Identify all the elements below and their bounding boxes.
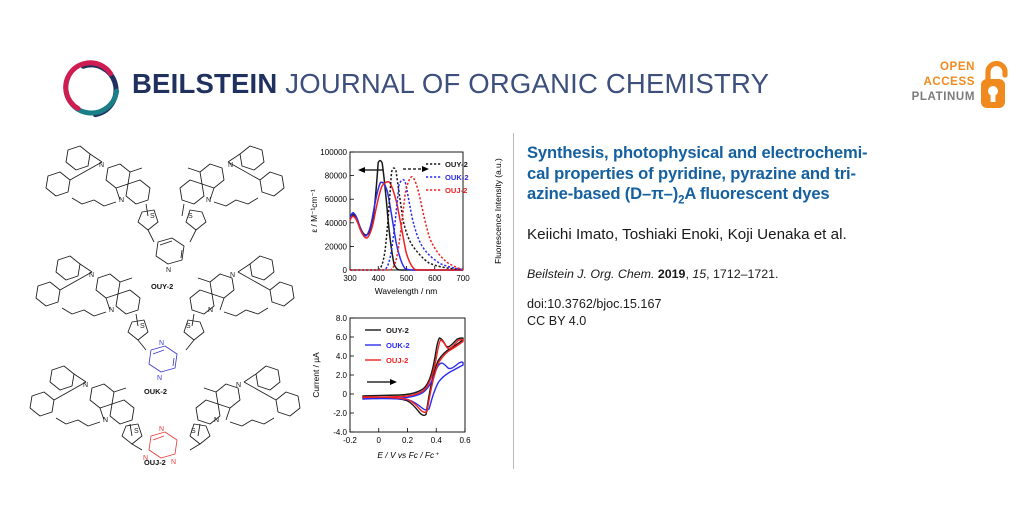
article-title-line1: Synthesis, photophysical and electrochem…: [527, 143, 867, 162]
svg-text:-2.0: -2.0: [333, 409, 347, 418]
svg-text:N: N: [109, 307, 114, 314]
svg-text:N: N: [157, 375, 162, 382]
spectra-y-axis-label: ε / M⁻¹cm⁻¹: [309, 189, 319, 232]
svg-text:N: N: [99, 162, 104, 169]
svg-text:0.2: 0.2: [402, 436, 414, 445]
compound-label-ouj2: OUJ-2: [144, 458, 166, 467]
svg-text:N: N: [166, 267, 171, 274]
svg-text:60000: 60000: [325, 195, 348, 204]
spectra-y-tick-labels: 0 20000 40000 60000 80000 100000: [320, 148, 347, 275]
article-license[interactable]: CC BY 4.0: [527, 313, 997, 330]
svg-text:S: S: [140, 323, 145, 330]
open-access-line3: PLATINUM: [912, 90, 975, 105]
absorption-emission-spectra-chart: 0 20000 40000 60000 80000 100000 300 400…: [305, 140, 510, 300]
open-access-line2: ACCESS: [912, 75, 975, 90]
vertical-divider: [513, 133, 514, 469]
open-access-line1: OPEN: [912, 60, 975, 75]
cv-legend-item-ouy2: OUY-2: [386, 326, 409, 335]
svg-text:S: S: [191, 428, 196, 435]
article-title-line2: cal properties of pyridine, pyrazine and…: [527, 164, 856, 183]
svg-text:N: N: [171, 459, 176, 466]
citation-pages: 1712–1721.: [713, 267, 778, 281]
citation-year: 2019: [658, 267, 686, 281]
spectra-x-axis-label: Wavelength / nm: [375, 286, 438, 296]
svg-text:N: N: [89, 272, 94, 279]
svg-text:80000: 80000: [325, 172, 348, 181]
svg-text:0: 0: [343, 390, 348, 399]
cv-y-tick-labels: 8.0 6.0 4.0 2.0 0 -2.0 -4.0: [333, 314, 347, 437]
article-title: Synthesis, photophysical and electrochem…: [527, 143, 997, 211]
legend-item-ouk2: OUK-2: [445, 173, 469, 182]
svg-text:N: N: [103, 417, 108, 424]
svg-text:500: 500: [400, 274, 414, 283]
chemical-structures-figure: N N S N: [28, 138, 302, 468]
article-citation: Beilstein J. Org. Chem. 2019, 15, 1712–1…: [527, 266, 997, 282]
open-padlock-icon: [979, 58, 1013, 110]
article-metadata: Synthesis, photophysical and electrochem…: [527, 143, 997, 330]
cv-legend-item-ouj2: OUJ-2: [386, 356, 408, 365]
svg-text:N: N: [236, 382, 241, 389]
citation-journal: Beilstein J. Org. Chem.: [527, 267, 654, 281]
spectra-y2-axis-label: Fluorescence Intensity (a.u.): [493, 158, 503, 264]
svg-text:100000: 100000: [320, 148, 347, 157]
wordmark-light: JOURNAL OF ORGANIC CHEMISTRY: [277, 68, 769, 99]
svg-text:0.6: 0.6: [459, 436, 471, 445]
cv-x-axis-label: E / V vs Fc / Fc⁺: [377, 450, 439, 460]
svg-text:-0.2: -0.2: [343, 436, 357, 445]
svg-text:N: N: [230, 272, 235, 279]
svg-text:S: S: [186, 323, 191, 330]
svg-text:20000: 20000: [325, 242, 348, 251]
article-doi[interactable]: doi:10.3762/bjoc.15.167: [527, 296, 997, 313]
svg-text:N: N: [159, 340, 164, 347]
svg-text:300: 300: [343, 274, 357, 283]
svg-text:S: S: [134, 428, 139, 435]
masthead: BEILSTEIN JOURNAL OF ORGANIC CHEMISTRY O…: [0, 0, 1024, 132]
svg-text:N: N: [159, 426, 164, 433]
compound-label-ouk2: OUK-2: [144, 387, 167, 396]
journal-wordmark: BEILSTEIN JOURNAL OF ORGANIC CHEMISTRY: [132, 70, 769, 98]
svg-text:N: N: [206, 197, 211, 204]
article-title-line3-a: azine-based (D–π–): [527, 184, 678, 203]
svg-text:2.0: 2.0: [336, 371, 348, 380]
svg-text:N: N: [83, 382, 88, 389]
cyclic-voltammogram-chart: 8.0 6.0 4.0 2.0 0 -2.0 -4.0 -0.2 0 0.2: [305, 308, 510, 470]
legend-item-ouj2: OUJ-2: [445, 186, 467, 195]
svg-text:N: N: [119, 197, 124, 204]
svg-text:S: S: [188, 213, 193, 220]
citation-volume: 15: [692, 267, 706, 281]
legend-item-ouy2: OUY-2: [445, 160, 468, 169]
svg-text:0.4: 0.4: [431, 436, 443, 445]
svg-text:600: 600: [428, 274, 442, 283]
wordmark-bold: BEILSTEIN: [132, 68, 277, 99]
svg-text:400: 400: [372, 274, 386, 283]
open-access-text: OPEN ACCESS PLATINUM: [912, 60, 975, 105]
svg-text:N: N: [228, 162, 233, 169]
compound-label-ouy2: OUY-2: [151, 282, 173, 291]
svg-text:4.0: 4.0: [336, 352, 348, 361]
article-title-line3-b: A fluorescent dyes: [684, 184, 829, 203]
cv-legend-item-ouk2: OUK-2: [386, 341, 410, 350]
svg-text:N: N: [214, 417, 219, 424]
svg-text:0: 0: [377, 436, 382, 445]
spectra-x-tick-labels: 300 400 500 600 700: [343, 274, 470, 283]
svg-text:6.0: 6.0: [336, 333, 348, 342]
svg-text:700: 700: [456, 274, 470, 283]
article-authors: Keiichi Imato, Toshiaki Enoki, Koji Uena…: [527, 225, 997, 244]
svg-text:N: N: [208, 307, 213, 314]
figures-panel: 0 20000 40000 60000 80000 100000 300 400…: [305, 140, 510, 470]
beilstein-swirl-logo: [57, 56, 125, 124]
cv-x-tick-labels: -0.2 0 0.2 0.4 0.6: [343, 436, 471, 445]
svg-text:40000: 40000: [325, 219, 348, 228]
cv-y-axis-label: Current / µA: [311, 352, 321, 398]
svg-text:8.0: 8.0: [336, 314, 348, 323]
open-access-badge: OPEN ACCESS PLATINUM: [893, 60, 1013, 120]
svg-text:S: S: [150, 213, 155, 220]
